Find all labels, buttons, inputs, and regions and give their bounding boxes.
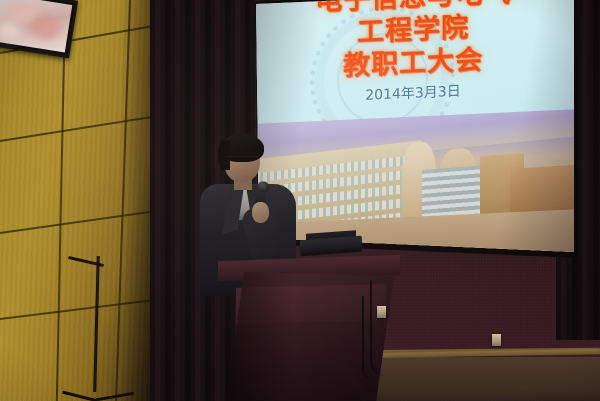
display-screen	[0, 0, 72, 52]
presenter-hair-side	[218, 140, 230, 170]
presenter-hand	[252, 202, 269, 223]
wall-power-outlet	[492, 334, 501, 346]
power-cable	[362, 296, 374, 380]
eyeglasses-icon	[226, 156, 258, 165]
photograph-auditorium-scene: 电子信息与电气 工程学院 教职工大会 2014年3月3日	[0, 0, 600, 401]
